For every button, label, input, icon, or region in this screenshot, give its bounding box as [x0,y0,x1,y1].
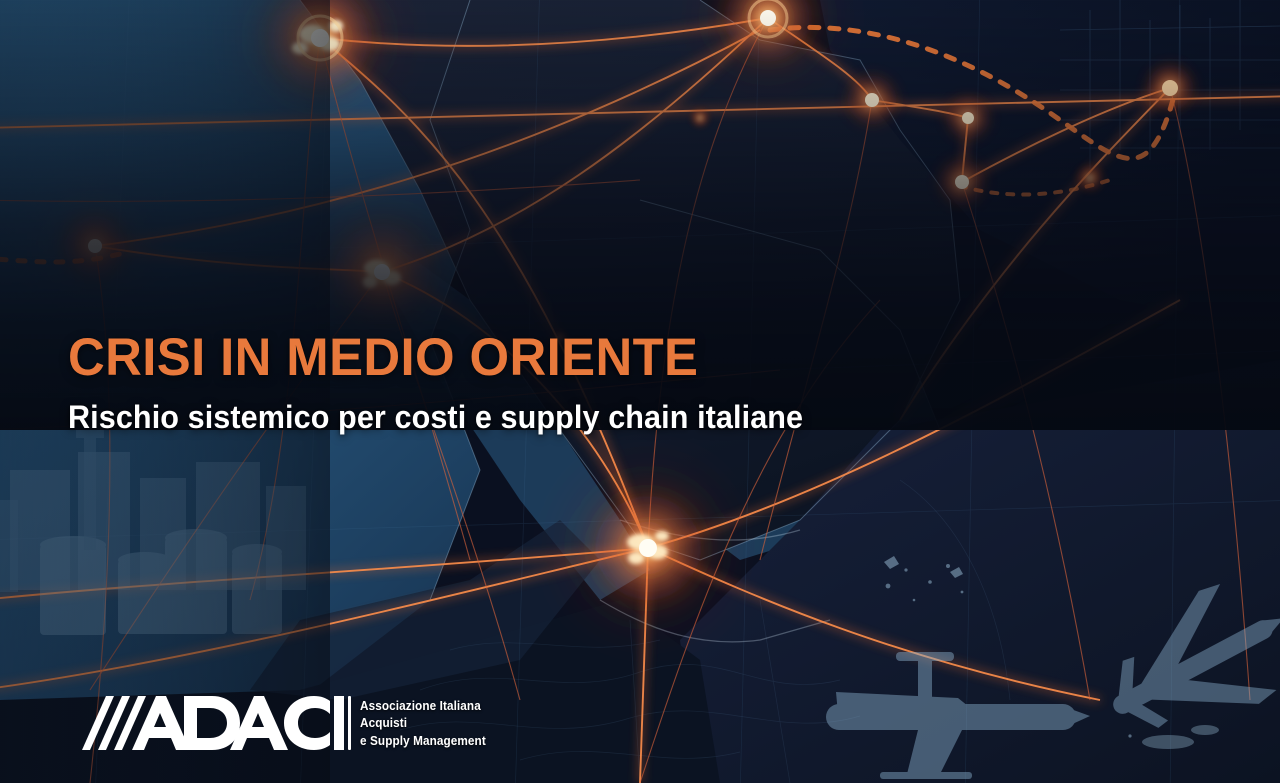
logo-tagline-line-3: e Supply Management [360,735,486,748]
hotspot-red-sea [324,214,440,330]
logo-tagline: Associazione Italiana Acquisti e Supply … [360,699,494,748]
logo-tagline-line-2: Acquisti [360,717,486,730]
logo-divider [348,696,351,750]
adaci-logo: Associazione Italiana Acquisti e Supply … [80,694,494,752]
headline-block: CRISI IN MEDIO ORIENTE Rischio sistemico… [68,330,968,435]
adaci-wordmark-ci-icon [282,694,344,752]
hotspot-mediterranean [55,206,135,286]
hotspot-gulf-a [840,68,904,132]
hotspot-arabian-sea [1140,58,1200,118]
hotspot-bab-el-mandeb [584,484,712,612]
slide-canvas: CRISI IN MEDIO ORIENTE Rischio sistemico… [0,0,1280,783]
page-title: CRISI IN MEDIO ORIENTE [68,330,932,385]
hotspot-gulf-b [940,90,996,146]
adaci-wordmark-icon [80,694,288,752]
page-subtitle: Rischio sistemico per costi e supply cha… [68,400,928,435]
logo-tagline-line-1: Associazione Italiana [360,700,486,713]
hotspot-gulf-c [932,152,992,212]
